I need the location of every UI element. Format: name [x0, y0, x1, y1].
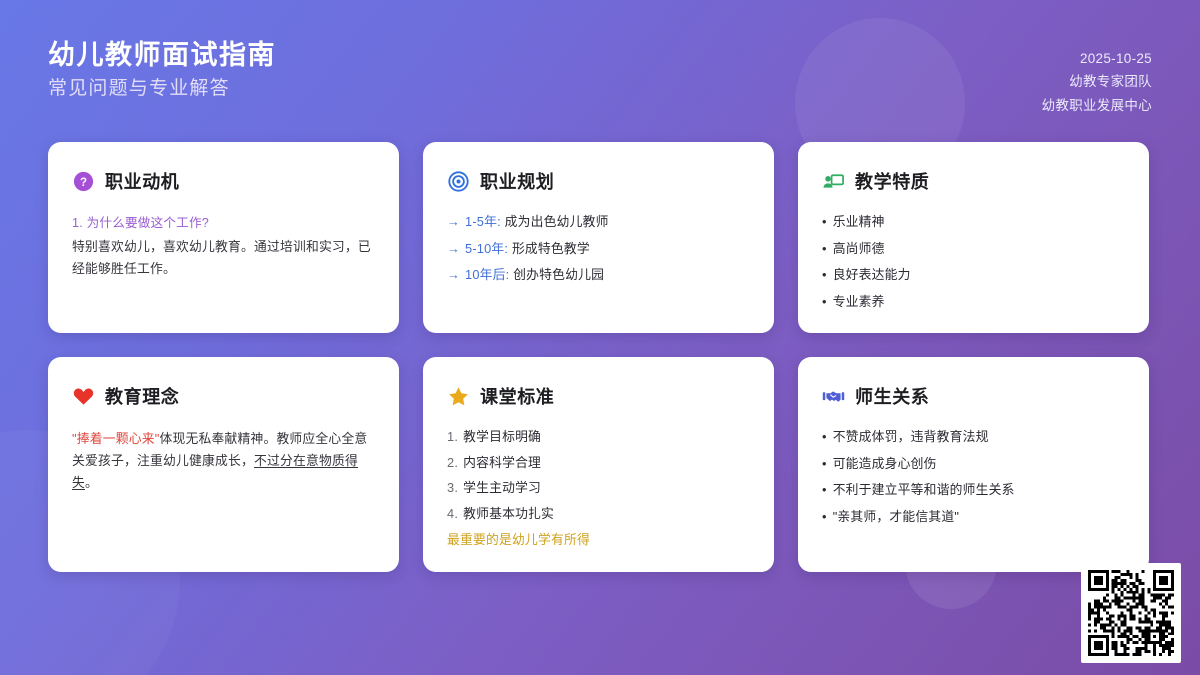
- list-item: •不利于建立平等和谐的师生关系: [822, 481, 1125, 500]
- header-meta: 2025-10-25 幼教专家团队 幼教职业发展中心: [1042, 40, 1152, 116]
- list-item-label: 可能造成身心创伤: [833, 456, 937, 471]
- plan-period: 1-5年:: [465, 214, 501, 229]
- card-title: 教育理念: [105, 383, 179, 409]
- standards-note: 最重要的是幼儿学有所得: [447, 531, 750, 550]
- heart-icon: [72, 385, 95, 408]
- title-block: 幼儿教师面试指南 常见问题与专业解答: [48, 40, 276, 100]
- bullet-icon: •: [822, 482, 827, 497]
- list-item-label: 不利于建立平等和谐的师生关系: [833, 482, 1015, 497]
- card-title: 职业动机: [105, 168, 179, 194]
- card-header: 师生关系: [822, 383, 1125, 409]
- arrow-icon: →: [447, 214, 460, 229]
- career-plan-list: →1-5年: 成为出色幼儿教师 →5-10年: 形成特色教学 →10年后: 创办…: [447, 213, 750, 285]
- bullet-icon: •: [822, 214, 827, 229]
- svg-text:?: ?: [80, 176, 87, 188]
- card-header: 教学特质: [822, 168, 1125, 194]
- card-teacher-student-relation[interactable]: 师生关系 •不赞成体罚，违背教育法规 •可能造成身心创伤 •不利于建立平等和谐的…: [798, 357, 1149, 572]
- list-item: →5-10年: 形成特色教学: [447, 240, 750, 259]
- card-grid: ? 职业动机 1. 为什么要做这个工作? 特别喜欢幼儿，喜欢幼儿教育。通过培训和…: [48, 142, 1153, 572]
- card-title: 职业规划: [480, 168, 554, 194]
- list-item: •可能造成身心创伤: [822, 455, 1125, 474]
- list-item-label: 乐业精神: [833, 214, 885, 229]
- card-career-plan[interactable]: 职业规划 →1-5年: 成为出色幼儿教师 →5-10年: 形成特色教学 →10年…: [423, 142, 774, 333]
- bullet-icon: •: [822, 509, 827, 524]
- list-item: •良好表达能力: [822, 266, 1125, 285]
- page-subtitle: 常见问题与专业解答: [48, 78, 276, 100]
- card-header: ? 职业动机: [72, 168, 375, 194]
- bullet-icon: •: [822, 456, 827, 471]
- list-item: •乐业精神: [822, 213, 1125, 232]
- bullet-icon: •: [822, 241, 827, 256]
- plan-text: 形成特色教学: [512, 241, 590, 256]
- plan-text: 成为出色幼儿教师: [505, 214, 609, 229]
- card-title: 教学特质: [855, 168, 929, 194]
- list-item: 3.学生主动学习: [447, 479, 750, 498]
- star-icon: [447, 385, 470, 408]
- list-item: •"亲其师，才能信其道": [822, 508, 1125, 527]
- list-item-label: 不赞成体罚，违背教育法规: [833, 429, 989, 444]
- list-item-label: 良好表达能力: [833, 267, 911, 282]
- relation-list: •不赞成体罚，违背教育法规 •可能造成身心创伤 •不利于建立平等和谐的师生关系 …: [822, 428, 1125, 526]
- list-item: →10年后: 创办特色幼儿园: [447, 266, 750, 285]
- plan-text: 创办特色幼儿园: [513, 267, 604, 282]
- question-circle-icon: ?: [72, 170, 95, 193]
- card-header: 职业规划: [447, 168, 750, 194]
- bullet-icon: •: [822, 267, 827, 282]
- arrow-icon: →: [447, 267, 460, 282]
- list-item-label: 教学目标明确: [463, 429, 541, 444]
- qr-code[interactable]: [1081, 563, 1181, 663]
- plan-period: 5-10年:: [465, 241, 508, 256]
- card-teaching-traits[interactable]: 教学特质 •乐业精神 •高尚师德 •良好表达能力 •专业素养: [798, 142, 1149, 333]
- list-item: •高尚师德: [822, 240, 1125, 259]
- card-education-philosophy[interactable]: 教育理念 "捧着一颗心来"体现无私奉献精神。教师应全心全意关爱孩子，注重幼儿健康…: [48, 357, 399, 572]
- card-header: 课堂标准: [447, 383, 750, 409]
- list-number: 1.: [447, 429, 458, 444]
- slide-header: 幼儿教师面试指南 常见问题与专业解答 2025-10-25 幼教专家团队 幼教职…: [0, 0, 1200, 142]
- list-item-label: 学生主动学习: [463, 480, 541, 495]
- philosophy-text: "捧着一颗心来"体现无私奉献精神。教师应全心全意关爱孩子，注重幼儿健康成长，不过…: [72, 428, 375, 494]
- question-text: 1. 为什么要做这个工作?: [72, 213, 375, 233]
- teaching-screen-icon: [822, 170, 845, 193]
- list-item-label: 教师基本功扎实: [463, 506, 554, 521]
- list-item-label: 高尚师德: [833, 241, 885, 256]
- page-title: 幼儿教师面试指南: [48, 40, 276, 71]
- card-title: 师生关系: [855, 383, 929, 409]
- answer-text: 特别喜欢幼儿，喜欢幼儿教育。通过培训和实习，已经能够胜任工作。: [72, 236, 375, 280]
- list-item: →1-5年: 成为出色幼儿教师: [447, 213, 750, 232]
- list-number: 3.: [447, 480, 458, 495]
- list-item: 4.教师基本功扎实: [447, 505, 750, 524]
- list-item-label: "亲其师，才能信其道": [833, 509, 959, 524]
- meta-team: 幼教专家团队: [1069, 72, 1152, 92]
- handshake-icon: [822, 385, 845, 408]
- list-item: •不赞成体罚，违背教育法规: [822, 428, 1125, 447]
- standards-list: 1.教学目标明确 2.内容科学合理 3.学生主动学习 4.教师基本功扎实: [447, 428, 750, 523]
- arrow-icon: →: [447, 241, 460, 256]
- list-number: 2.: [447, 455, 458, 470]
- card-classroom-standards[interactable]: 课堂标准 1.教学目标明确 2.内容科学合理 3.学生主动学习 4.教师基本功扎…: [423, 357, 774, 572]
- card-career-motivation[interactable]: ? 职业动机 1. 为什么要做这个工作? 特别喜欢幼儿，喜欢幼儿教育。通过培训和…: [48, 142, 399, 333]
- meta-org: 幼教职业发展中心: [1042, 96, 1152, 116]
- meta-date: 2025-10-25: [1080, 49, 1152, 69]
- plan-period: 10年后:: [465, 267, 509, 282]
- list-item: 1.教学目标明确: [447, 428, 750, 447]
- card-header: 教育理念: [72, 383, 375, 409]
- card-title: 课堂标准: [480, 383, 554, 409]
- list-item-label: 内容科学合理: [463, 455, 541, 470]
- bullet-icon: •: [822, 429, 827, 444]
- list-item-label: 专业素养: [833, 294, 885, 309]
- target-icon: [447, 170, 470, 193]
- traits-list: •乐业精神 •高尚师德 •良好表达能力 •专业素养: [822, 213, 1125, 311]
- list-number: 4.: [447, 506, 458, 521]
- bullet-icon: •: [822, 294, 827, 309]
- philosophy-end: 。: [85, 475, 98, 490]
- list-item: 2.内容科学合理: [447, 454, 750, 473]
- list-item: •专业素养: [822, 293, 1125, 312]
- philosophy-quote: "捧着一颗心来": [72, 431, 159, 446]
